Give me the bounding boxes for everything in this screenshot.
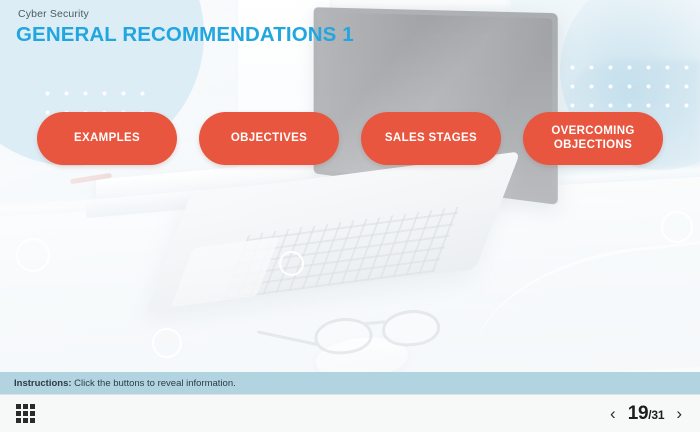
grid-cell (30, 411, 35, 416)
button-objectives[interactable]: OBJECTIVES (199, 112, 339, 165)
decorative-ring (279, 251, 304, 276)
slide-stage: Cyber Security GENERAL RECOMMENDATIONS 1… (0, 0, 700, 372)
current-page-number: 19 (628, 403, 649, 425)
total-page-count: /31 (648, 408, 664, 422)
instructions-bar: Instructions: Click the buttons to revea… (0, 372, 700, 394)
grid-cell (16, 411, 21, 416)
slide-header: Cyber Security GENERAL RECOMMENDATIONS 1 (16, 8, 354, 47)
button-examples[interactable]: EXAMPLES (37, 112, 177, 165)
decorative-ring (661, 211, 693, 243)
player-navbar: ‹ 19 /31 › (0, 394, 700, 432)
decorative-ring (16, 238, 50, 272)
grid-cell (23, 418, 28, 423)
prev-page-icon[interactable]: ‹ (608, 405, 618, 422)
grid-cell (23, 404, 28, 409)
grid-menu-icon[interactable] (16, 404, 35, 423)
page-counter: 19 /31 (628, 403, 665, 425)
grid-cell (16, 404, 21, 409)
instructions-text: Instructions: Click the buttons to revea… (0, 378, 236, 389)
slide-root: Cyber Security GENERAL RECOMMENDATIONS 1… (0, 0, 700, 432)
grid-cell (30, 418, 35, 423)
pagination-controls: ‹ 19 /31 › (608, 403, 684, 425)
grid-cell (23, 411, 28, 416)
instructions-label: Instructions: (14, 378, 72, 389)
course-name: Cyber Security (18, 8, 354, 20)
topic-button-row: EXAMPLES OBJECTIVES SALES STAGES OVERCOM… (0, 110, 700, 166)
grid-cell (16, 418, 21, 423)
instructions-body: Click the buttons to reveal information. (72, 378, 236, 389)
decorative-ring (152, 328, 182, 358)
button-sales-stages[interactable]: SALES STAGES (361, 112, 501, 165)
page-title: GENERAL RECOMMENDATIONS 1 (16, 23, 354, 47)
next-page-icon[interactable]: › (674, 405, 684, 422)
grid-cell (30, 404, 35, 409)
button-overcoming-objections[interactable]: OVERCOMING OBJECTIONS (523, 112, 663, 165)
